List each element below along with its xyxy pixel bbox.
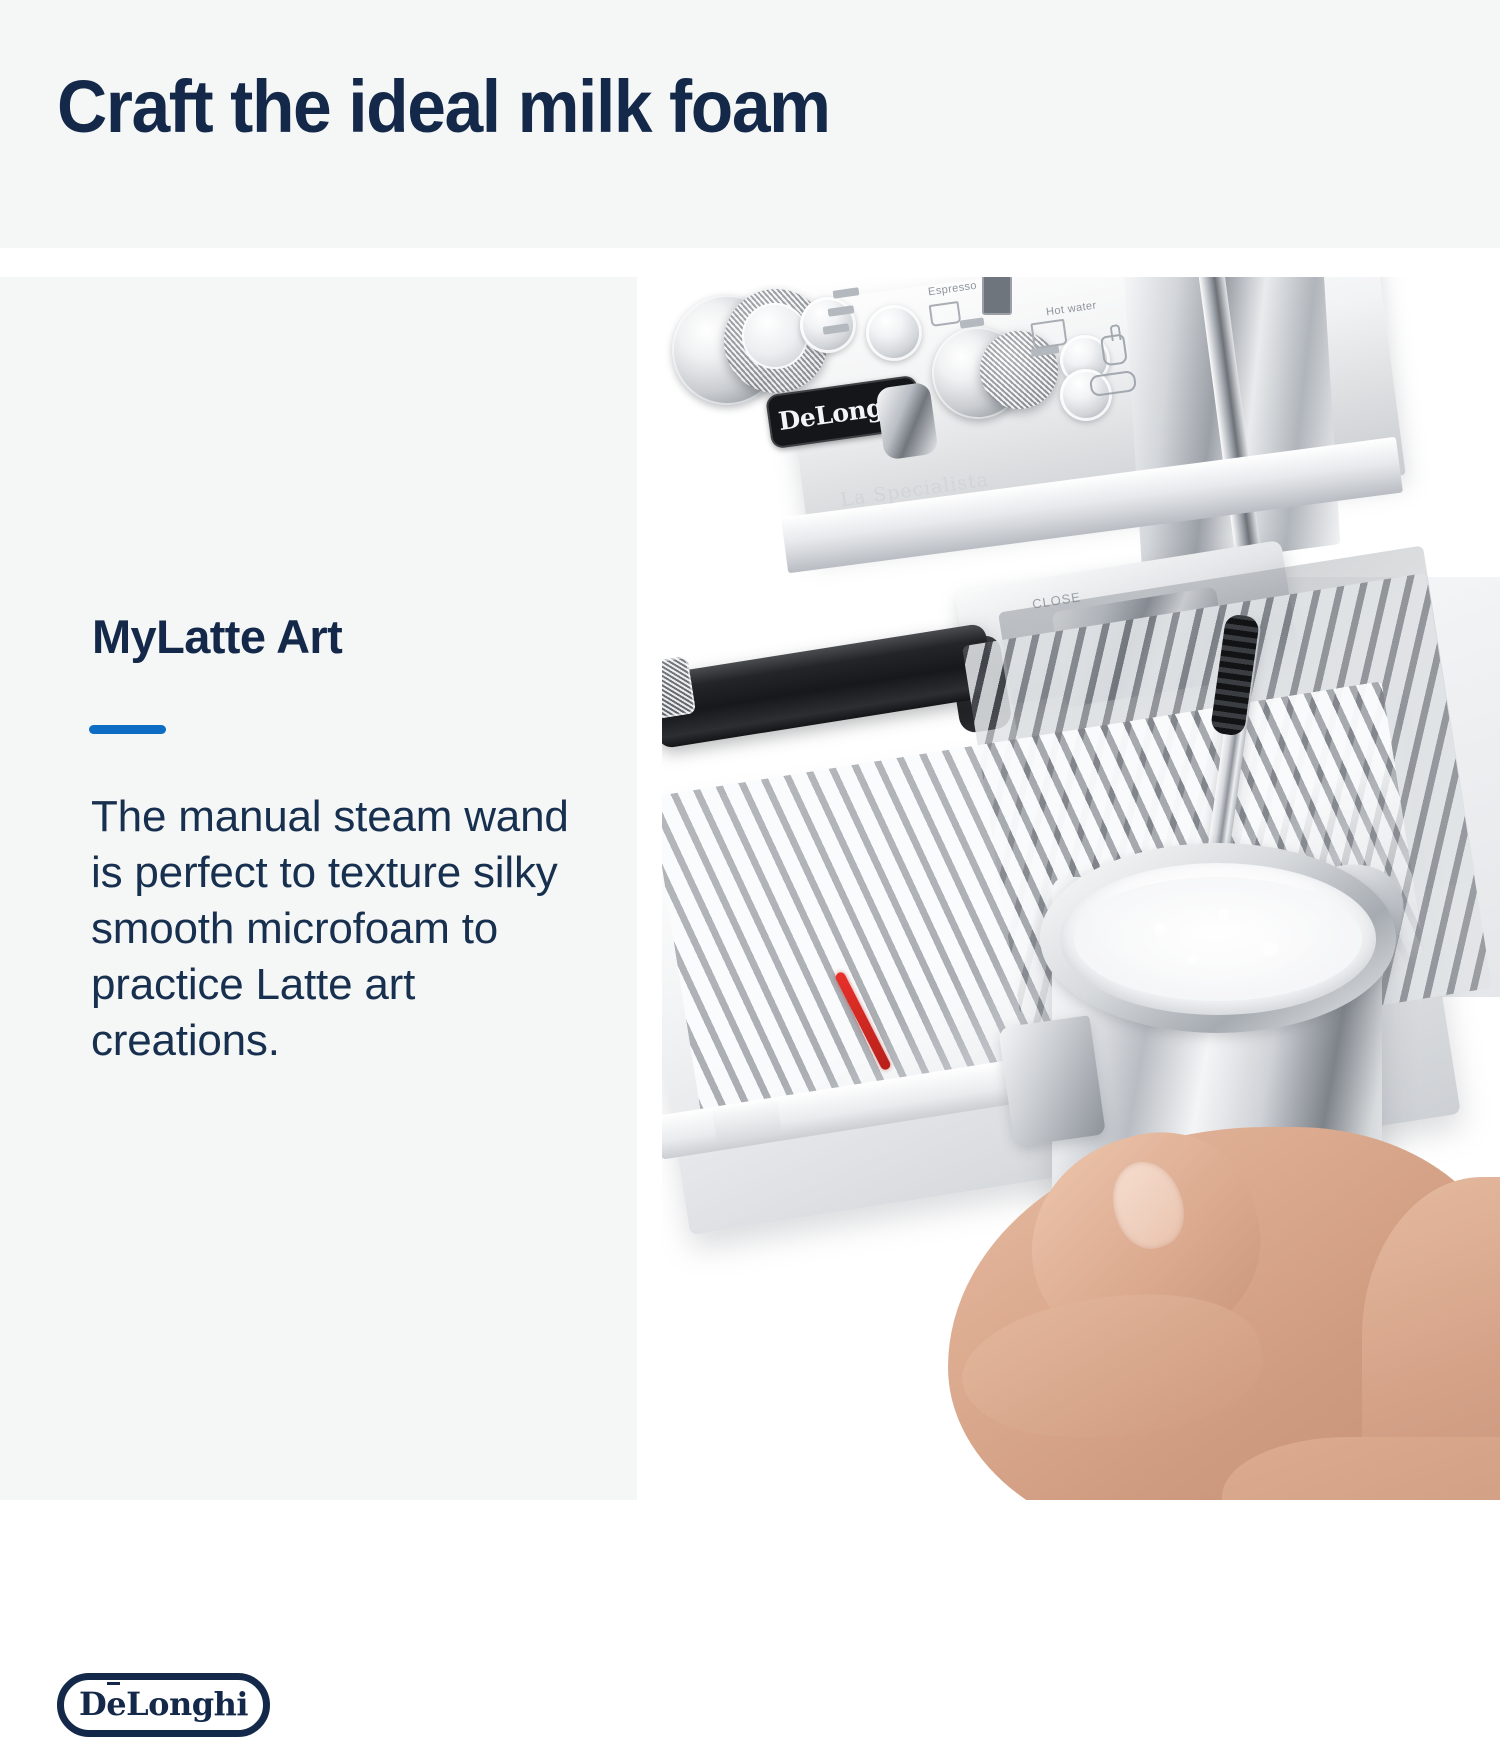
delonghi-logo-text: DeLonghi bbox=[79, 1685, 248, 1723]
hot-water-cup-icon bbox=[1030, 319, 1067, 349]
logo-text-tail: Longhi bbox=[126, 1685, 248, 1723]
accent-divider bbox=[89, 725, 166, 734]
badge-chrome-boss bbox=[875, 382, 938, 461]
product-photo: Espresso Hot water DeLonghi La Specialis… bbox=[662, 277, 1500, 1500]
portafilter-end-cap bbox=[662, 656, 696, 721]
feature-description: The manual steam wand is perfect to text… bbox=[91, 789, 571, 1068]
header-band: Craft the ideal milk foam bbox=[0, 0, 1500, 248]
control-button-two bbox=[866, 305, 922, 361]
page-root: Craft the ideal milk foam MyLatte Art Th… bbox=[0, 0, 1500, 1500]
touch-hand-icon bbox=[1100, 333, 1128, 366]
portafilter-handle bbox=[662, 623, 996, 749]
espresso-cup-icon bbox=[929, 301, 962, 327]
tall-cup-icon bbox=[982, 277, 1012, 315]
milk-pitcher-handle bbox=[998, 1015, 1106, 1147]
logo-macron-e: e bbox=[106, 1685, 126, 1723]
page-title: Craft the ideal milk foam bbox=[57, 70, 830, 144]
milk-foam bbox=[1074, 877, 1362, 1001]
delonghi-logo: DeLonghi bbox=[57, 1673, 270, 1737]
feature-title: MyLatte Art bbox=[92, 609, 342, 664]
knob-face bbox=[742, 303, 808, 369]
feature-text-panel: MyLatte Art The manual steam wand is per… bbox=[0, 277, 637, 1500]
